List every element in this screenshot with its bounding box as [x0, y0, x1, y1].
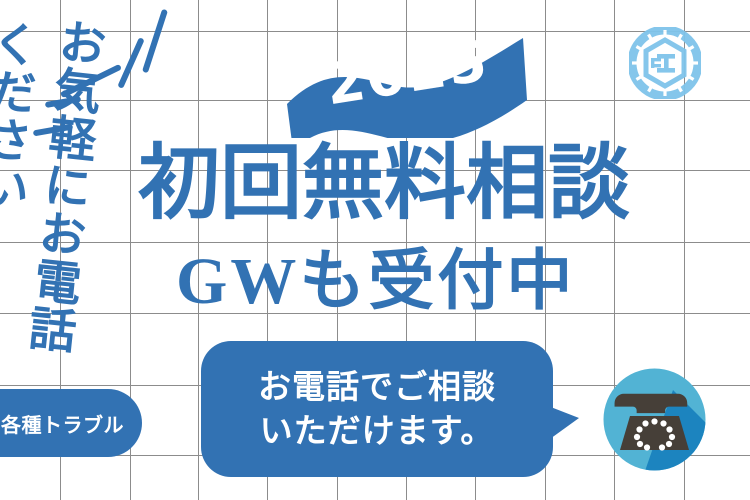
bubble-line-1: お電話でご相談 — [258, 365, 496, 409]
bubble-line-2: いただけます。 — [260, 409, 495, 453]
category-tag-label: 各種トラブル — [1, 409, 124, 438]
speech-bubble[interactable]: お電話でご相談 いただけます。 — [201, 341, 553, 477]
emphasis-line-0 — [142, 9, 168, 74]
promotional-banner: ください お気軽にお電話 2025 初回無料相談 GWも受付中 お電話でご相談 … — [0, 0, 750, 500]
headline-primary: 初回無料相談 — [138, 143, 630, 225]
year-ribbon: 2025 — [283, 8, 531, 138]
rotary-telephone-glyph — [603, 368, 706, 471]
emphasis-line-1 — [117, 37, 144, 89]
vertical-copy-outer: ください — [0, 18, 37, 213]
category-tag[interactable]: 各種トラブル — [0, 389, 142, 457]
company-seal-glyph — [629, 27, 701, 99]
seal-kanji — [651, 54, 675, 73]
rotary-telephone-icon[interactable] — [603, 368, 706, 471]
headline-secondary: GWも受付中 — [176, 249, 575, 315]
company-seal-logo — [629, 27, 701, 99]
grid-line-horizontal-3 — [0, 242, 750, 243]
